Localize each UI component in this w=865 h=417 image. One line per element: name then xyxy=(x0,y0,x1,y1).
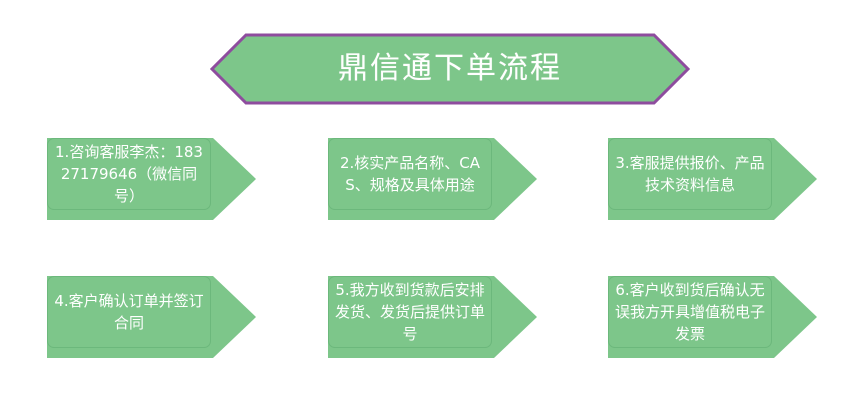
step-label-5: 5.我方收到货款后安排发货、发货后提供订单号 xyxy=(328,276,492,348)
step-label-2: 2.核实产品名称、CAS、规格及具体用途 xyxy=(328,138,492,210)
flow-step-2[interactable]: 2.核实产品名称、CAS、规格及具体用途 xyxy=(328,138,538,220)
step-label-1: 1.咨询客服李杰：18327179646（微信同号） xyxy=(47,138,211,210)
flow-step-5[interactable]: 5.我方收到货款后安排发货、发货后提供订单号 xyxy=(328,276,538,358)
flow-step-6[interactable]: 6.客户收到货后确认无误我方开具增值税电子发票 xyxy=(608,276,818,358)
flow-step-1[interactable]: 1.咨询客服李杰：18327179646（微信同号） xyxy=(47,138,257,220)
step-label-6: 6.客户收到货后确认无误我方开具增值税电子发票 xyxy=(608,276,772,348)
flow-step-3[interactable]: 3.客服提供报价、产品技术资料信息 xyxy=(608,138,818,220)
step-label-4: 4.客户确认订单并签订合同 xyxy=(47,276,211,348)
flow-step-4[interactable]: 4.客户确认订单并签订合同 xyxy=(47,276,257,358)
flowchart-title-banner: 鼎信通下单流程 xyxy=(210,33,690,105)
page-title: 鼎信通下单流程 xyxy=(210,33,690,105)
step-label-3: 3.客服提供报价、产品技术资料信息 xyxy=(608,138,772,210)
